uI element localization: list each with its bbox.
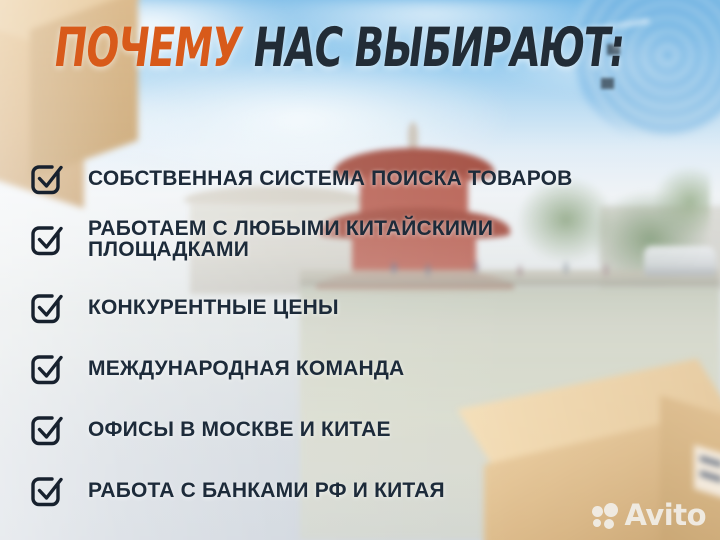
list-item: Конкурентные цены [28, 285, 339, 329]
check-square-icon [28, 410, 66, 448]
check-square-icon [28, 288, 66, 326]
background-car [644, 246, 716, 276]
list-item-label: Собственная система поиска товаров [88, 168, 573, 189]
promo-poster: почему нас выбирают: Собственная система… [0, 0, 720, 540]
pagoda-roof-base [316, 270, 514, 294]
background-pagoda [320, 124, 510, 304]
list-item: Собственная система поиска товаров [28, 156, 573, 200]
avito-dots-icon [592, 503, 618, 529]
check-square-icon [28, 471, 66, 509]
check-square-icon [28, 220, 66, 258]
check-square-icon [28, 159, 66, 197]
list-item: Работаем с любыми китайскими площадками [28, 217, 493, 261]
background-quay [300, 270, 720, 286]
check-square-icon [28, 349, 66, 387]
list-item: Международная команда [28, 346, 404, 390]
list-item-label: Офисы в Москве и Китае [88, 419, 391, 440]
page-title-highlight: почему [51, 16, 245, 79]
list-item-label: Работаем с любыми китайскими площадками [88, 218, 493, 260]
pagoda-spire [408, 122, 418, 148]
avito-watermark: Avito [592, 501, 706, 530]
page-title: почему нас выбирают: [51, 21, 627, 75]
avito-wordmark: Avito [624, 501, 706, 530]
background-waterline [300, 280, 720, 298]
list-item-label: Конкурентные цены [88, 297, 339, 318]
page-title-rest: нас выбирают: [250, 16, 628, 79]
background-building-right [600, 206, 720, 290]
list-item: Работа с банками РФ и Китая [28, 468, 445, 512]
list-item: Офисы в Москве и Китае [28, 407, 391, 451]
spiral-dot-2 [601, 78, 614, 89]
list-item-label: Работа с банками РФ и Китая [88, 480, 445, 501]
list-item-label: Международная команда [88, 358, 404, 379]
